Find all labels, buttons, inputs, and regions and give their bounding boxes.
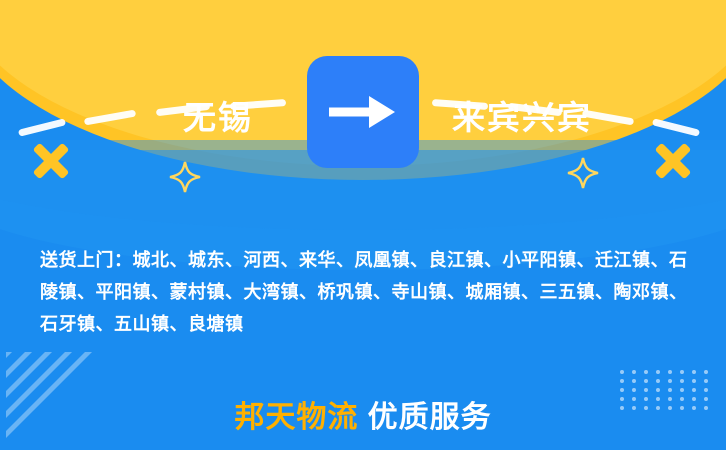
sparkle-icon-right [566, 156, 600, 190]
brand-name: 邦天物流 [234, 401, 358, 434]
logistics-banner: 无锡 来宾兴宾 送货上门：城北、城东、河西、来华、凤凰镇、良江镇、小平阳镇、迁江… [0, 0, 726, 450]
origin-city-label: 无锡 [183, 98, 253, 138]
arrow-right-icon [307, 56, 419, 168]
delivery-areas-text: 送货上门：城北、城东、河西、来华、凤凰镇、良江镇、小平阳镇、迁江镇、石陵镇、平阳… [40, 244, 690, 340]
cross-decoration-right [652, 140, 694, 182]
slogan-row: 邦天物流 优质服务 [0, 392, 726, 436]
cross-decoration-left [30, 140, 72, 182]
destination-city-label: 来宾兴宾 [452, 98, 592, 138]
service-slogan: 优质服务 [368, 401, 492, 434]
sparkle-icon-left [168, 160, 202, 194]
